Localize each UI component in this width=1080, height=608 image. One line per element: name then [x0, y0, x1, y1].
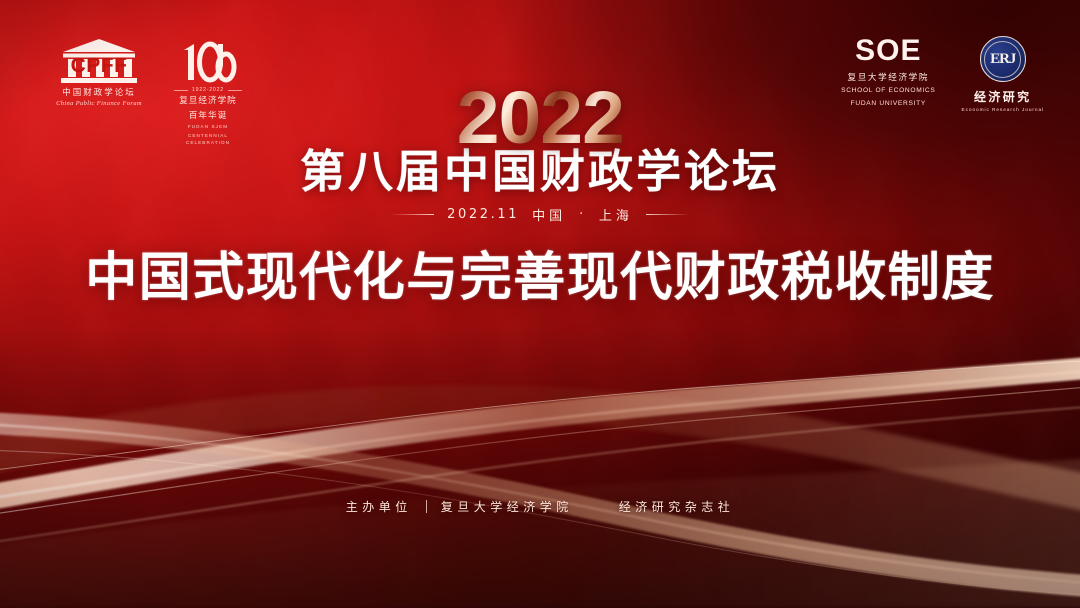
erj-seal-text: ERJ	[990, 51, 1015, 68]
footer-organizer-1: 复旦大学经济学院	[441, 498, 573, 515]
soe-chinese-name: 复旦大学经济学院	[848, 71, 930, 83]
fudan-100-numeral-icon	[178, 40, 238, 84]
ribbon-artwork	[0, 300, 1080, 608]
soe-wordmark: SOE	[855, 36, 921, 66]
event-meta: 2022.11 中国 · 上海	[0, 205, 1080, 224]
footer-organizers: 主办单位 复旦大学经济学院 经济研究杂志社	[0, 498, 1080, 515]
erj-seal-icon: ERJ	[980, 36, 1026, 82]
event-country: 中国	[532, 205, 566, 224]
event-city: 上海	[599, 205, 633, 224]
main-theme: 中国式现代化与完善现代财政税收制度	[0, 250, 1080, 307]
headline-block: 2022 第八届中国财政学论坛 2022.11 中国 · 上海	[0, 84, 1080, 224]
poster-canvas: CPFF 中国财政学论坛 China Public Finance Forum …	[0, 0, 1080, 608]
cpff-temple-icon: CPFF	[60, 38, 138, 84]
meta-rule-right	[646, 214, 690, 215]
footer-organizer-2: 经济研究杂志社	[619, 498, 735, 515]
footer-divider	[426, 500, 427, 513]
meta-rule-left	[390, 214, 434, 215]
footer-label: 主办单位	[346, 498, 412, 515]
meta-separator-dot: ·	[579, 207, 586, 222]
year-2022: 2022	[456, 84, 623, 152]
cpff-wordmark: CPFF	[60, 55, 138, 76]
event-date: 2022.11	[447, 207, 519, 222]
